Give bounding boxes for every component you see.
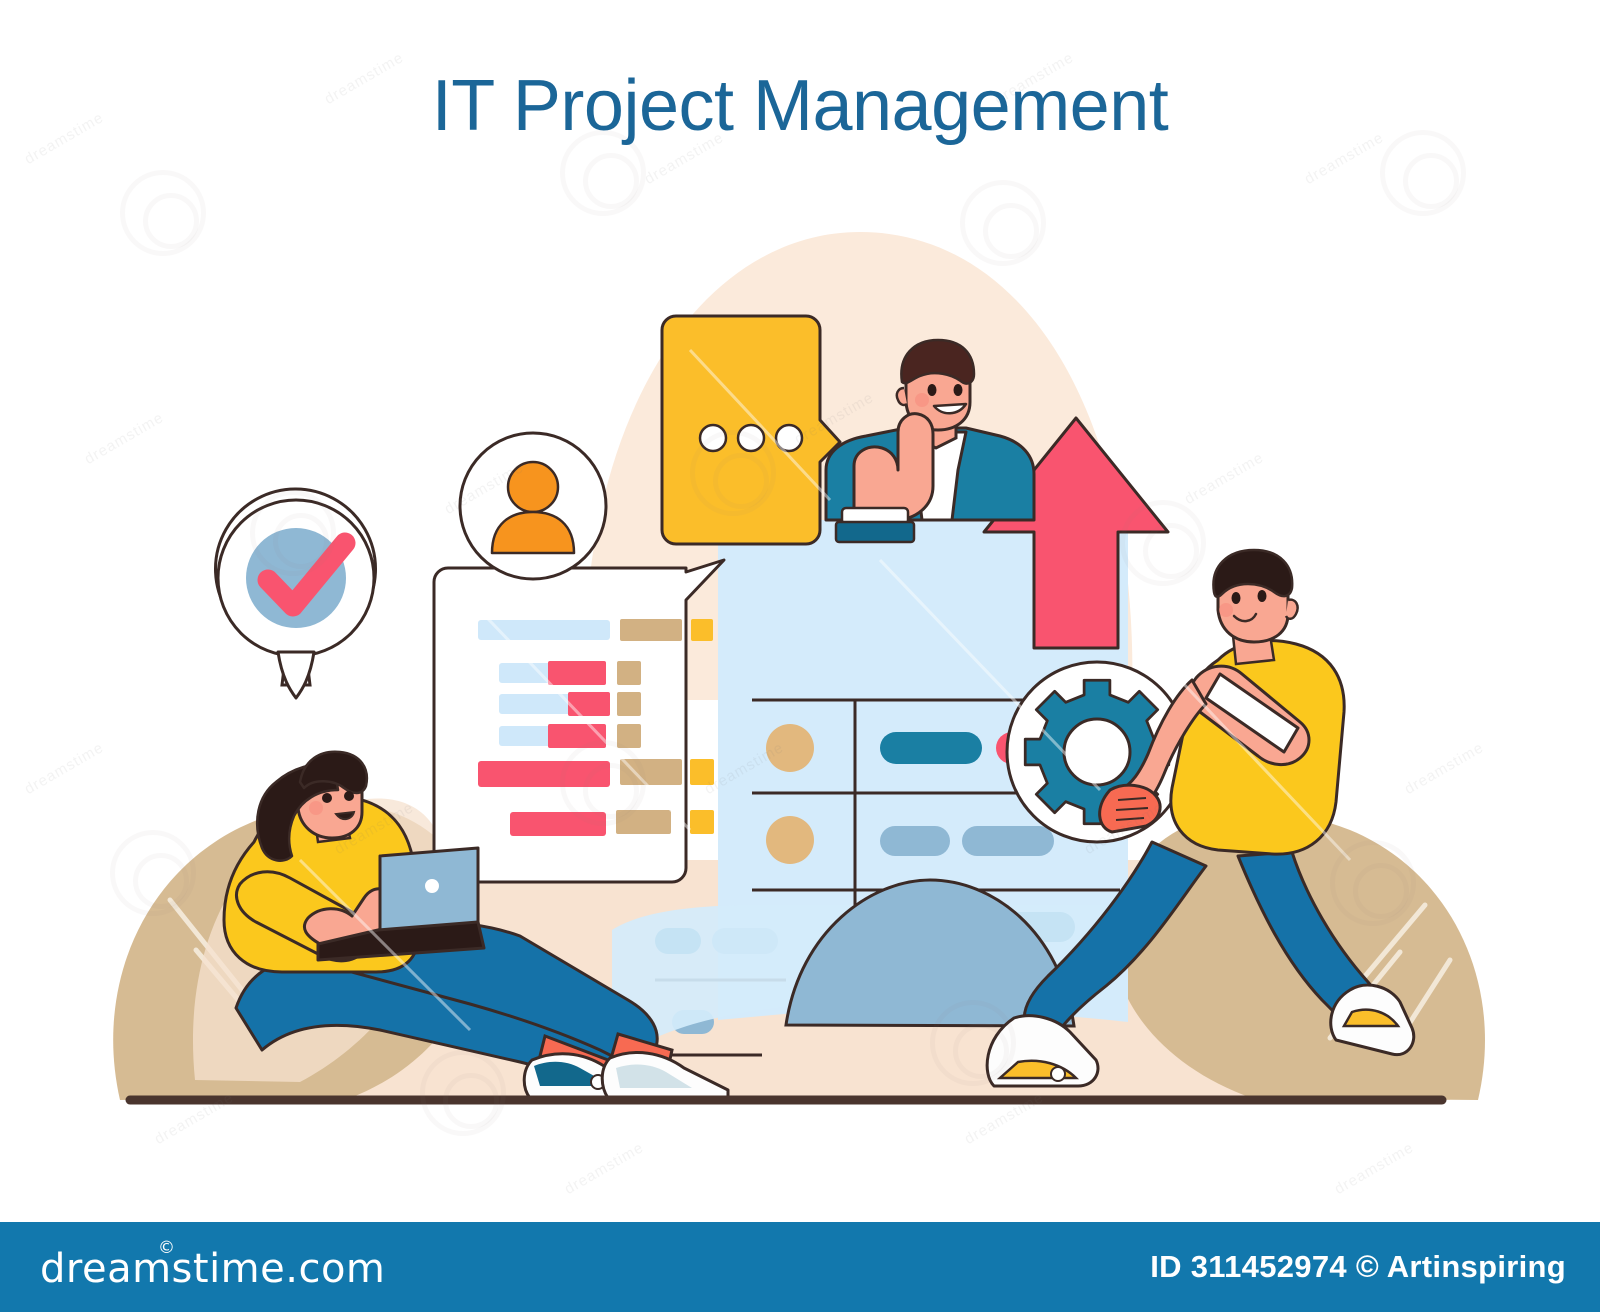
- board-pill: [880, 732, 982, 764]
- registered-mark-icon: ©: [158, 1238, 176, 1258]
- watermark-footer-bar: dreamstime.com © ID 311452974 © Artinspi…: [0, 1222, 1600, 1312]
- board-avatar: [766, 724, 814, 772]
- board-pill: [880, 826, 950, 856]
- board-avatar: [766, 816, 814, 864]
- board-pill: [962, 826, 1054, 856]
- image-credit: ID 311452974 © Artinspiring: [1150, 1249, 1566, 1285]
- user-badge[interactable]: [460, 433, 606, 579]
- dreamstime-logo-text: dreamstime.com: [40, 1246, 385, 1292]
- typing-bubble[interactable]: [662, 316, 840, 544]
- dreamstime-logo[interactable]: dreamstime.com ©: [40, 1242, 385, 1292]
- bubble-dots: [700, 425, 802, 451]
- illustration-stage: dreamstime dreamstime dreamstime dreamst…: [0, 0, 1600, 1312]
- scene-artwork: [0, 0, 1600, 1312]
- check-badge[interactable]: [215, 489, 375, 698]
